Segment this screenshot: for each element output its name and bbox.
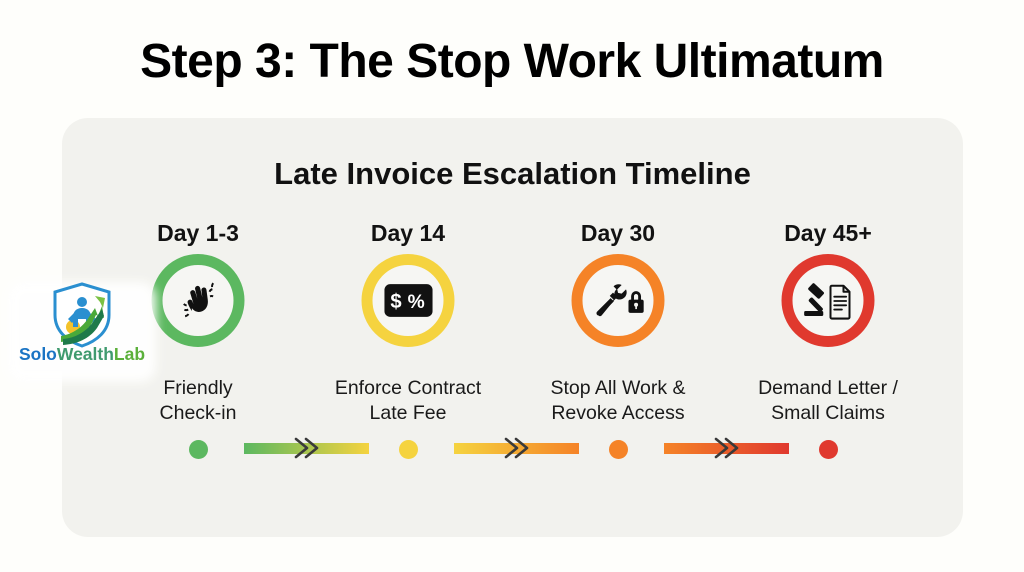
- step-ring-2: [572, 254, 665, 347]
- logo-word-wealth: Wealth: [57, 344, 114, 364]
- step-ring-wrap: [743, 254, 913, 364]
- step-ring-3: [782, 254, 875, 347]
- dollar-percent-badge-icon: $ %: [383, 283, 433, 318]
- step-caption: Friendly Check-in: [113, 376, 283, 426]
- step-ring-wrap: $ %: [323, 254, 493, 364]
- shield-growth-icon: [51, 282, 113, 348]
- logo-wordmark: SoloWealthLab: [8, 344, 156, 365]
- double-chevron-right-icon: [287, 431, 327, 465]
- gavel-document-icon: [800, 280, 856, 322]
- logo-word-lab: Lab: [114, 344, 145, 364]
- step-ring-0: [152, 254, 245, 347]
- step-caption: Demand Letter / Small Claims: [743, 376, 913, 426]
- step-caption: Enforce Contract Late Fee: [323, 376, 493, 426]
- step-dot-3: [819, 440, 838, 459]
- timeline-card: Late Invoice Escalation Timeline: [62, 118, 963, 537]
- escalation-timeline: Day 1-3 Friendly Check-in: [62, 118, 963, 537]
- svg-text:$: $: [390, 291, 401, 313]
- step-day-label: Day 14: [323, 218, 493, 248]
- step-dot-1: [399, 440, 418, 459]
- step-day-label: Day 30: [533, 218, 703, 248]
- double-chevron-right-icon: [707, 431, 747, 465]
- timeline-step-1[interactable]: Day 14 $ % Enforce Contract Late Fee: [323, 218, 493, 459]
- svg-text:%: %: [407, 292, 424, 313]
- step-ring-1: $ %: [362, 254, 455, 347]
- waving-hand-icon: [176, 279, 220, 323]
- page-title: Step 3: The Stop Work Ultimatum: [0, 34, 1024, 89]
- step-ring-wrap: [533, 254, 703, 364]
- timeline-step-2[interactable]: Day 30: [533, 218, 703, 459]
- step-caption: Stop All Work & Revoke Access: [533, 376, 703, 426]
- logo[interactable]: SoloWealthLab: [8, 282, 156, 382]
- step-day-label: Day 45+: [743, 218, 913, 248]
- timeline-step-3[interactable]: Day 45+: [743, 218, 913, 459]
- step-dot-0: [189, 440, 208, 459]
- logo-word-solo: Solo: [19, 344, 57, 364]
- step-day-label: Day 1-3: [113, 218, 283, 248]
- step-dot-2: [609, 440, 628, 459]
- double-chevron-right-icon: [497, 431, 537, 465]
- tools-lock-icon: [591, 282, 645, 320]
